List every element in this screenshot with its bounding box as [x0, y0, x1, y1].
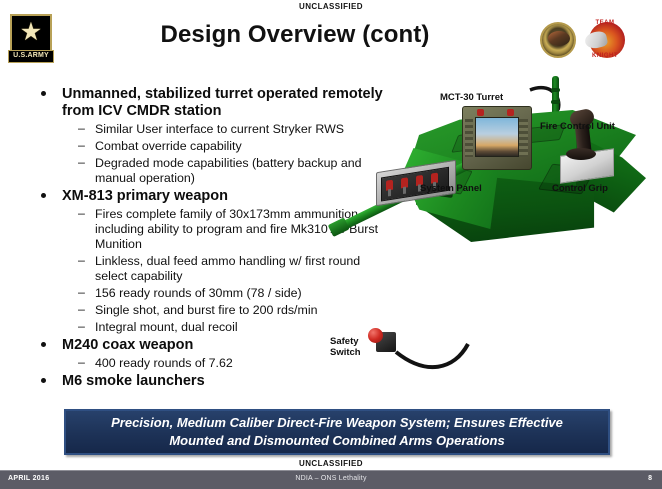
fcu-right-buttons [519, 119, 528, 157]
label-fire-control-unit: Fire Control Unit [540, 121, 615, 132]
bullet-text: M6 smoke launchers [62, 373, 205, 389]
bullet-text: Integral mount, dual recoil [95, 320, 238, 334]
label-mct-30-turret: MCT-30 Turret [440, 92, 503, 103]
bullet-text: Similar User interface to current Stryke… [95, 122, 344, 136]
dash-icon: – [78, 285, 85, 300]
slide-canvas: UNCLASSIFIED ★ U.S.ARMY Design Overview … [0, 0, 662, 488]
summary-banner-line1: Precision, Medium Caliber Direct-Fire We… [111, 415, 563, 430]
bullet-dot-icon [41, 193, 46, 198]
summary-banner: Precision, Medium Caliber Direct-Fire We… [64, 409, 610, 455]
classification-top: UNCLASSIFIED [0, 2, 662, 11]
label-safety-switch: Safety Switch [330, 336, 370, 358]
fcu-knob [507, 109, 514, 116]
fcu-left-buttons [465, 119, 473, 157]
dash-icon: – [78, 302, 85, 317]
army-wordmark: U.S.ARMY [8, 50, 54, 63]
classification-bottom: UNCLASSIFIED [0, 459, 662, 468]
footer-bar: APRIL 2016 NDIA – ONS Lethality 8 [0, 470, 662, 489]
label-control-grip: Control Grip [552, 183, 608, 194]
footer-page-number: 8 [648, 475, 652, 482]
fcu-display-screen [475, 117, 519, 157]
panel-switch-stem [388, 189, 391, 196]
team-knight-logo: TEAM KNIGHT [583, 20, 627, 60]
dash-icon: – [78, 253, 85, 268]
knight-label-bottom: KNIGHT [583, 53, 627, 59]
label-safety-switch-line2: Switch [330, 347, 370, 358]
fcu-knob [477, 109, 484, 116]
army-star-box: ★ [10, 14, 52, 52]
us-army-logo: ★ U.S.ARMY [8, 14, 54, 66]
safety-switch-knob [368, 328, 383, 343]
summary-banner-line2: Mounted and Dismounted Combined Arms Ope… [169, 433, 504, 448]
dash-icon: – [78, 355, 85, 370]
bullet-dot-icon [41, 378, 46, 383]
dash-icon: – [78, 138, 85, 153]
page-title: Design Overview (cont) [60, 21, 530, 49]
dash-icon: – [78, 206, 85, 221]
dash-icon: – [78, 319, 85, 334]
bullet-dot-icon [41, 342, 46, 347]
program-seal-logo [540, 22, 576, 58]
bullet-text: 400 ready rounds of 7.62 [95, 356, 233, 370]
footer-event-title: NDIA – ONS Lethality [0, 475, 662, 482]
star-icon: ★ [20, 20, 42, 45]
label-safety-switch-line1: Safety [330, 336, 370, 347]
bullet-text: Combat override capability [95, 139, 242, 153]
control-grip-collar [566, 148, 596, 160]
dash-icon: – [78, 121, 85, 136]
summary-banner-text: Precision, Medium Caliber Direct-Fire We… [99, 414, 575, 450]
panel-switch-stem [403, 187, 406, 194]
knight-label-top: TEAM [583, 20, 627, 26]
antenna-icon [552, 76, 559, 116]
bullet-text: Single shot, and burst fire to 200 rds/m… [95, 303, 317, 317]
bullet-dot-icon [41, 91, 46, 96]
fire-control-unit-graphic [462, 106, 532, 170]
label-system-panel: System Panel [420, 183, 482, 194]
bullet-text: 156 ready rounds of 30mm (78 / side) [95, 286, 302, 300]
bullet-text: XM-813 primary weapon [62, 188, 228, 204]
bullet-text: M240 coax weapon [62, 337, 193, 353]
dash-icon: – [78, 155, 85, 170]
system-diagram: MCT-30 Turret Fire Control Unit System P… [318, 70, 662, 400]
